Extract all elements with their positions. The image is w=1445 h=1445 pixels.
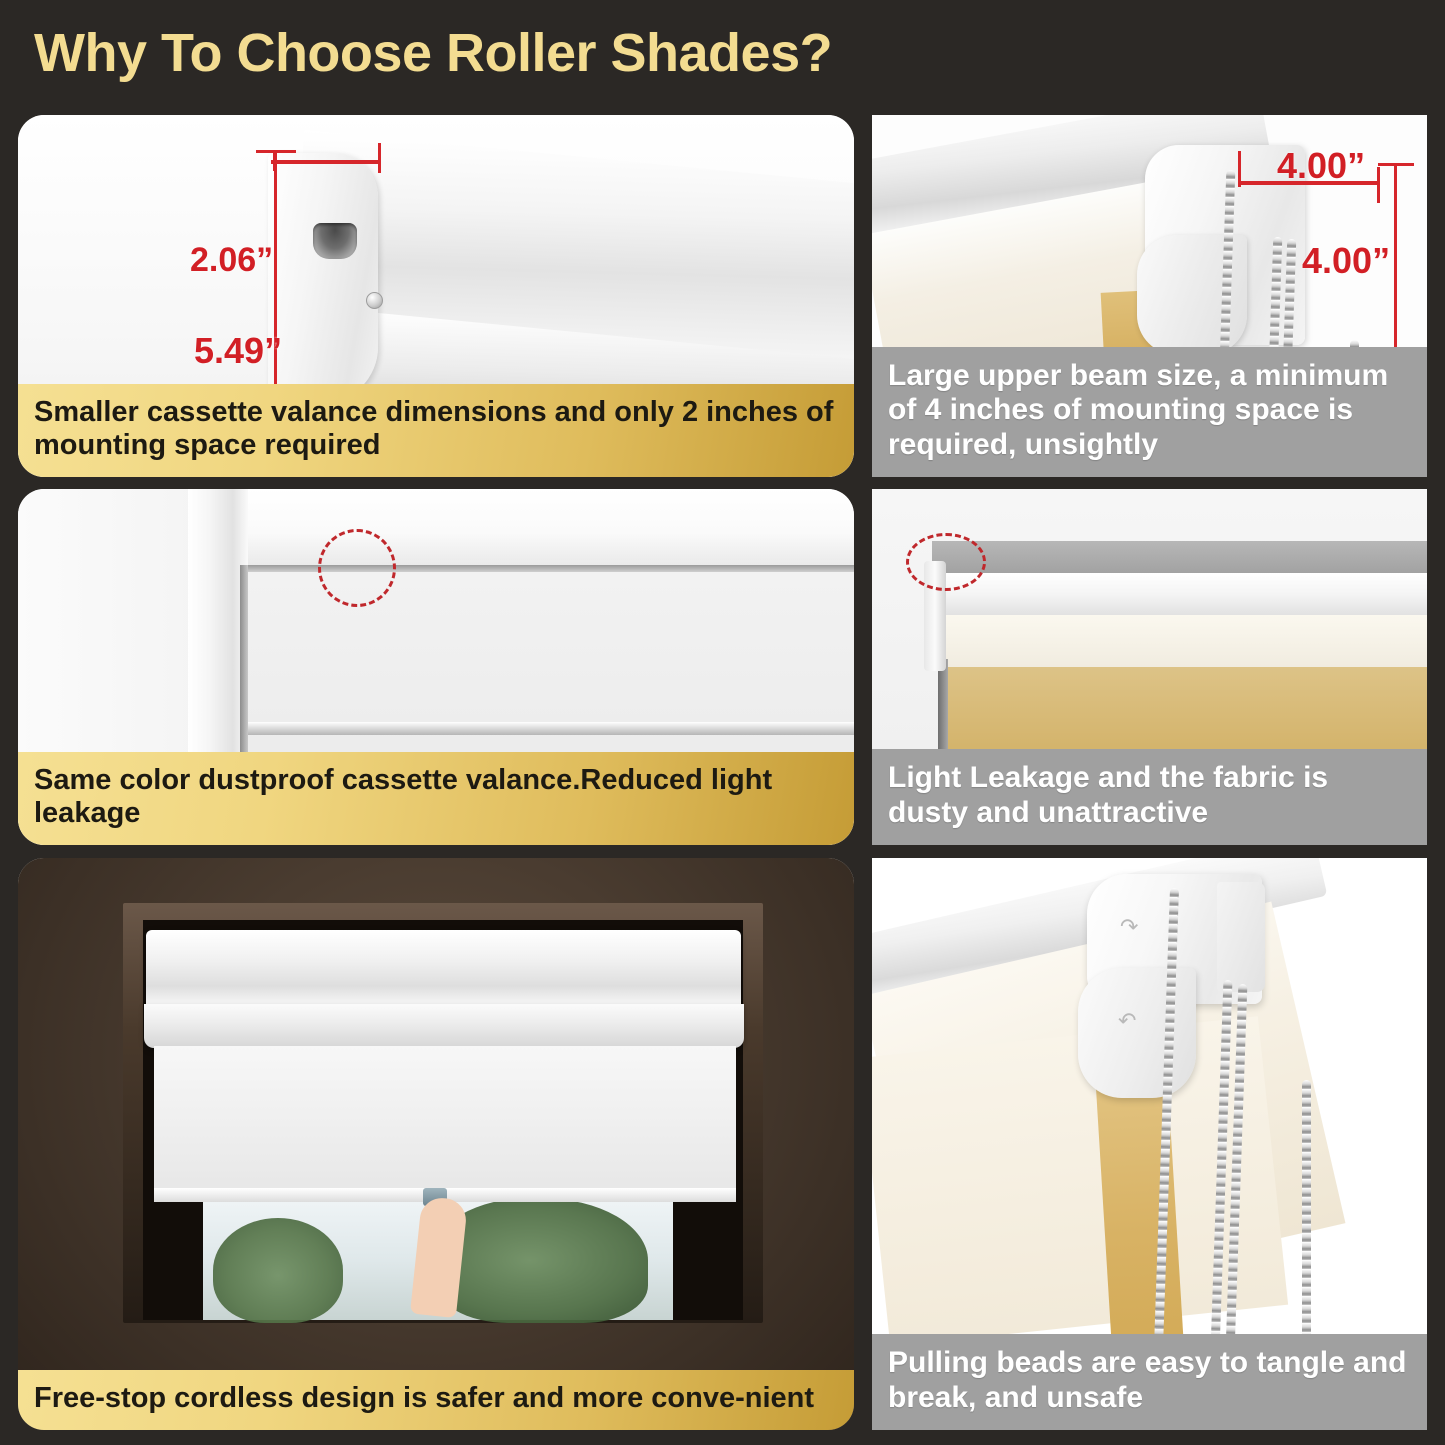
bracket-lower-lobe — [1078, 968, 1196, 1098]
infographic-page: Why To Choose Roller Shades? 2.06” 5.49”… — [0, 0, 1445, 1445]
caption-cassette-valance: Smaller cassette valance dimensions and … — [18, 384, 854, 477]
tree-left — [213, 1218, 343, 1323]
bracket-arrow-glyph-2-icon: ↶ — [1118, 1008, 1136, 1034]
photo-room-scene — [18, 858, 854, 1430]
bracket-arrow-glyph-icon: ↷ — [1120, 914, 1138, 940]
highlight-circle-icon — [318, 529, 396, 607]
dimension-label-beam-width: 4.00” — [1277, 145, 1365, 187]
highlight-circle-icon — [906, 533, 986, 591]
caption-free-stop-cordless: Free-stop cordless design is safer and m… — [18, 1370, 854, 1430]
caption-pulling-beads: Pulling beads are easy to tangle and bre… — [872, 1334, 1427, 1430]
panel-free-stop-cordless: Free-stop cordless design is safer and m… — [18, 858, 854, 1430]
panel-pulling-beads: ↷ ↶ Pulling beads are easy to tangle and… — [872, 858, 1427, 1430]
page-title: Why To Choose Roller Shades? — [34, 22, 832, 84]
shade-fabric — [154, 1046, 736, 1201]
caption-light-leakage: Light Leakage and the fabric is dusty an… — [872, 749, 1427, 845]
valance-end-cap — [268, 153, 378, 403]
dimension-label-beam-height: 4.00” — [1302, 240, 1390, 282]
valance-mid-rail — [246, 722, 854, 735]
caption-large-upper-beam: Large upper beam size, a minimum of 4 in… — [872, 347, 1427, 477]
dimension-label-height: 5.49” — [194, 330, 282, 372]
dimension-label-width: 2.06” — [190, 241, 273, 280]
caption-dustproof-valance: Same color dustproof cassette valance.Re… — [18, 752, 854, 845]
panel-large-upper-beam: 4.00” 4.00” Large upper beam size, a min… — [872, 115, 1427, 477]
valance-slot — [313, 223, 357, 259]
panel-dustproof-cassette-valance: smaller gap Same color dustproof cassett… — [18, 489, 854, 845]
valance-lip — [144, 1004, 744, 1048]
panel-light-leakage: Large gap Light Leakage and the fabric i… — [872, 489, 1427, 845]
screw-upper-icon — [366, 292, 383, 309]
bead-chain-right — [1302, 1080, 1311, 1348]
cassette-valance — [146, 930, 741, 1008]
panel-cassette-valance-dimensions: 2.06” 5.49” Smaller cassette valance dim… — [18, 115, 854, 477]
bracket-mounting-tabs — [1217, 882, 1265, 992]
